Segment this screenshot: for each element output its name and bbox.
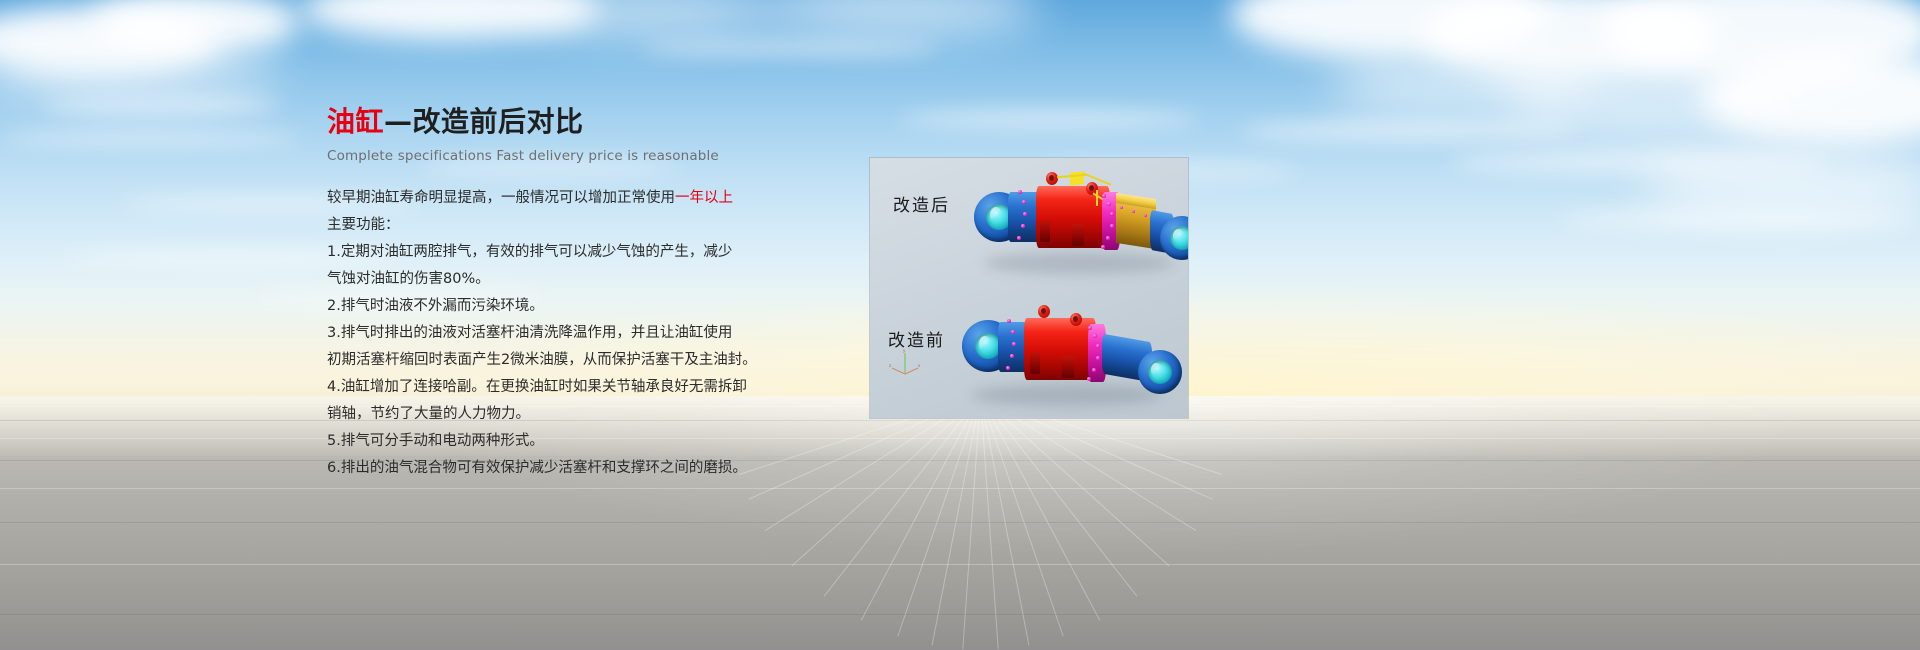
svg-text:y: y [903,348,906,353]
svg-text:x: x [918,363,921,368]
feature-line: 4.油缸增加了连接哈副。在更换油缸时如果关节轴承良好无需拆卸 [327,374,887,401]
cloud-wisp [1560,210,1920,230]
cad-bolt [1022,200,1026,204]
cad-bolt [1132,210,1135,213]
cad-lift-lug-hole [1041,308,1046,314]
feature-line: 1.定期对油缸两腔排气，有效的排气可以减少气蚀的产生，减少 [327,239,887,266]
cad-eye-highlight [1173,229,1184,243]
feature-line: 销轴，节约了大量的人力物力。 [327,401,887,428]
cloud-wisp [1240,120,1580,142]
label-after-modification: 改造后 [893,191,950,216]
cad-bolt [1088,326,1092,330]
feature-line: 6.排出的油气混合物可有效保护减少活塞杆和支撑环之间的磨损。 [327,455,887,482]
cad-eye-highlight [990,207,1002,223]
feature-line: 初期活塞杆缩回时表面产生2微米油膜，从而保护活塞干及主油封。 [327,347,887,374]
cloud-wisp [640,40,940,56]
cad-bolt [1018,190,1022,194]
cad-bolt [1101,245,1105,249]
cad-eye-highlight [1151,363,1162,377]
body-lead-line: 较早期油缸寿命明显提高，一般情况可以增加正常使用一年以上 [327,185,887,212]
cad-bolt [1010,354,1014,358]
cad-red-rib [1072,224,1084,246]
feature-line: 3.排气时排出的油液对活塞杆油清洗降温作用，并且让油缸使用 [327,320,887,347]
coordinate-triad-icon: y z x [888,348,922,378]
cloud-wisp [0,130,300,146]
cad-shadow [972,384,1162,406]
cad-bolt [1107,202,1111,206]
cad-shadow [984,252,1174,274]
page-title-accent: 油缸 [327,105,384,138]
cad-bolt [1006,366,1010,370]
body-lead-text: 较早期油缸寿命明显提高，一般情况可以增加正常使用 [327,190,675,206]
cad-bolt [1007,319,1011,323]
feature-line: 5.排气可分手动和电动两种形式。 [327,428,887,455]
cad-yellow-rod [1096,190,1098,206]
cad-bolt [1012,342,1016,346]
cad-red-rib [1062,356,1074,378]
page-subtitle: Complete specifications Fast delivery pr… [327,148,887,164]
svg-text:z: z [889,363,891,368]
cad-bolt [1144,214,1147,217]
feature-line: 气蚀对油缸的伤害80%。 [327,266,887,293]
cloud-wisp [900,110,1200,128]
cad-lift-lug-hole [1089,185,1094,191]
cad-lift-lug-hole [1049,175,1054,181]
body-copy: 较早期油缸寿命明显提高，一般情况可以增加正常使用一年以上 主要功能： 1.定期对… [327,185,887,482]
cloud-wisp [40,96,280,116]
cad-bolt [1021,224,1025,228]
cad-bolt [1110,224,1114,228]
cad-red-rib [1040,220,1050,242]
page-title-rest: —改造前后对比 [384,105,584,138]
cad-lift-lug-hole [1073,316,1078,322]
cad-red-rib [1030,352,1040,374]
cad-bolt [1096,356,1100,360]
cad-bolt [1017,236,1021,240]
copy-block: 油缸—改造前后对比 Complete specifications Fast d… [327,105,887,482]
banner-stage: 油缸—改造前后对比 Complete specifications Fast d… [0,0,1920,650]
cad-bolt [1110,212,1114,216]
cad-bolt [1093,334,1097,338]
body-lead-highlight: 一年以上 [675,190,733,206]
cad-eye-highlight [979,336,991,352]
cad-bolt [1106,236,1110,240]
cad-bolt [1023,212,1027,216]
ground-sheen [0,396,1920,650]
features-title: 主要功能： [327,212,887,239]
cad-bolt [1011,330,1015,334]
cad-bolt [1102,194,1106,198]
page-title: 油缸—改造前后对比 [327,105,887,139]
comparison-image-panel: 改造后 改造前 y z x [870,158,1188,418]
cad-cylinder-after [974,166,1188,284]
cad-bolt [1087,377,1091,381]
feature-line: 2.排气时油液不外漏而污染环境。 [327,293,887,320]
cad-bolt [1092,368,1096,372]
cad-bolt [1096,344,1100,348]
cad-cylinder-before [962,298,1180,416]
ground-plane [0,396,1920,650]
cad-bolt [1120,206,1123,209]
cloud-puff [1330,56,1590,114]
